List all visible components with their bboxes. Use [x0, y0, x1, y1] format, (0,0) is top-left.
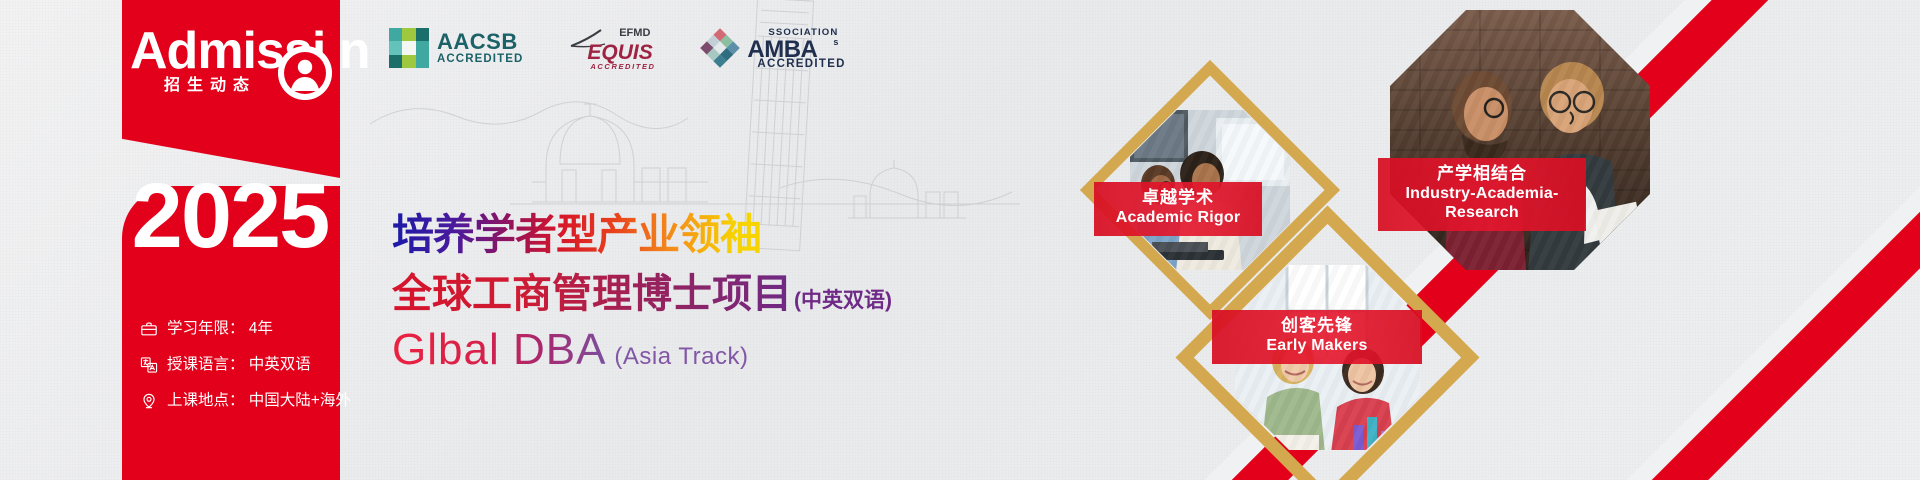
- collage-label-early-makers: 创客先锋 Early Makers: [1212, 310, 1422, 364]
- aacsb-name: AACSB: [437, 31, 523, 53]
- equis-accredited-text: ACCREDITED: [590, 62, 655, 71]
- user-avatar-icon: [278, 46, 332, 100]
- photo-collage: 卓越学术 Academic Rigor 产学相结合 Industry-Acade…: [1060, 0, 1920, 480]
- admission-wordmark: Admissi n 招生动态: [130, 24, 345, 104]
- info-text-duration: 学习年限： 4年: [167, 320, 273, 338]
- year-label: 2025: [0, 168, 340, 264]
- label-en-early-makers: Early Makers: [1224, 337, 1410, 356]
- efmd-text: EFMD: [619, 27, 650, 39]
- left-red-panel: Admissi n 招生动态 2025 学习年限： 4年: [0, 0, 340, 480]
- info-row-duration: 学习年限： 4年: [118, 320, 343, 338]
- aacsb-logo: AACSB ACCREDITED: [388, 27, 523, 69]
- label-cn-academic-rigor: 卓越学术: [1106, 188, 1250, 208]
- info-row-language: 授课语言： 中英双语: [118, 356, 343, 374]
- label-en-industry-academia: Industry-Academia-Research: [1390, 185, 1574, 223]
- program-bilingual-tag: (中英双语): [794, 284, 892, 314]
- briefcase-icon: [140, 320, 158, 338]
- admission-wordmark-cn: 招生动态: [164, 71, 256, 95]
- amba-logo-icon: [699, 27, 741, 69]
- translate-icon: [140, 356, 158, 374]
- headline-block: 培养学者型产业领袖 全球工商管理博士项目(中英双语) Glbal DBA(Asi…: [392, 212, 1092, 374]
- efmd-equis-logo: EFMD EQUIS ACCREDITED: [569, 24, 653, 72]
- aacsb-logo-text: AACSB ACCREDITED: [437, 31, 523, 66]
- accreditation-logos: AACSB ACCREDITED EFMD EQUIS ACCREDITED: [388, 24, 855, 72]
- info-text-location: 上课地点： 中国大陆+海外: [167, 392, 351, 410]
- amba-superscript: s: [833, 37, 838, 47]
- headline-program-line: 全球工商管理博士项目(中英双语): [392, 272, 1092, 316]
- collage-label-academic-rigor: 卓越学术 Academic Rigor: [1094, 182, 1262, 236]
- program-info-list: 学习年限： 4年 授课语言： 中英双语 上课地点： 中国大陆+海外: [118, 320, 343, 428]
- program-name-cn: 全球工商管理博士项目: [392, 272, 792, 316]
- program-name-en: Glbal DBA: [392, 326, 606, 374]
- two-men-discussing-photo: [1390, 10, 1650, 270]
- amba-logo-text: SSOCIATION AMBA s ACCREDITED: [747, 25, 855, 71]
- aacsb-accredited: ACCREDITED: [437, 54, 523, 66]
- headline-program-en-line: Glbal DBA(Asia Track): [392, 326, 1092, 374]
- label-cn-industry-academia: 产学相结合: [1390, 164, 1574, 184]
- admission-wordmark-text: Admissi n: [130, 24, 370, 78]
- label-cn-early-makers: 创客先锋: [1224, 316, 1410, 336]
- aacsb-logo-icon: [388, 27, 430, 69]
- collage-label-industry-academia: 产学相结合 Industry-Academia-Research: [1378, 158, 1586, 231]
- location-pin-icon: [140, 392, 158, 410]
- label-en-academic-rigor: Academic Rigor: [1106, 209, 1250, 228]
- amba-logo: SSOCIATION AMBA s ACCREDITED: [699, 25, 855, 71]
- headline-tagline: 培养学者型产业领袖: [392, 212, 761, 258]
- info-row-location: 上课地点： 中国大陆+海外: [118, 392, 343, 410]
- amba-accredited-text: ACCREDITED: [757, 58, 845, 70]
- admission-banner: Admissi n 招生动态 2025 学习年限： 4年: [0, 0, 1920, 480]
- info-text-language: 授课语言： 中英双语: [167, 356, 311, 374]
- program-track-tag: (Asia Track): [614, 343, 748, 371]
